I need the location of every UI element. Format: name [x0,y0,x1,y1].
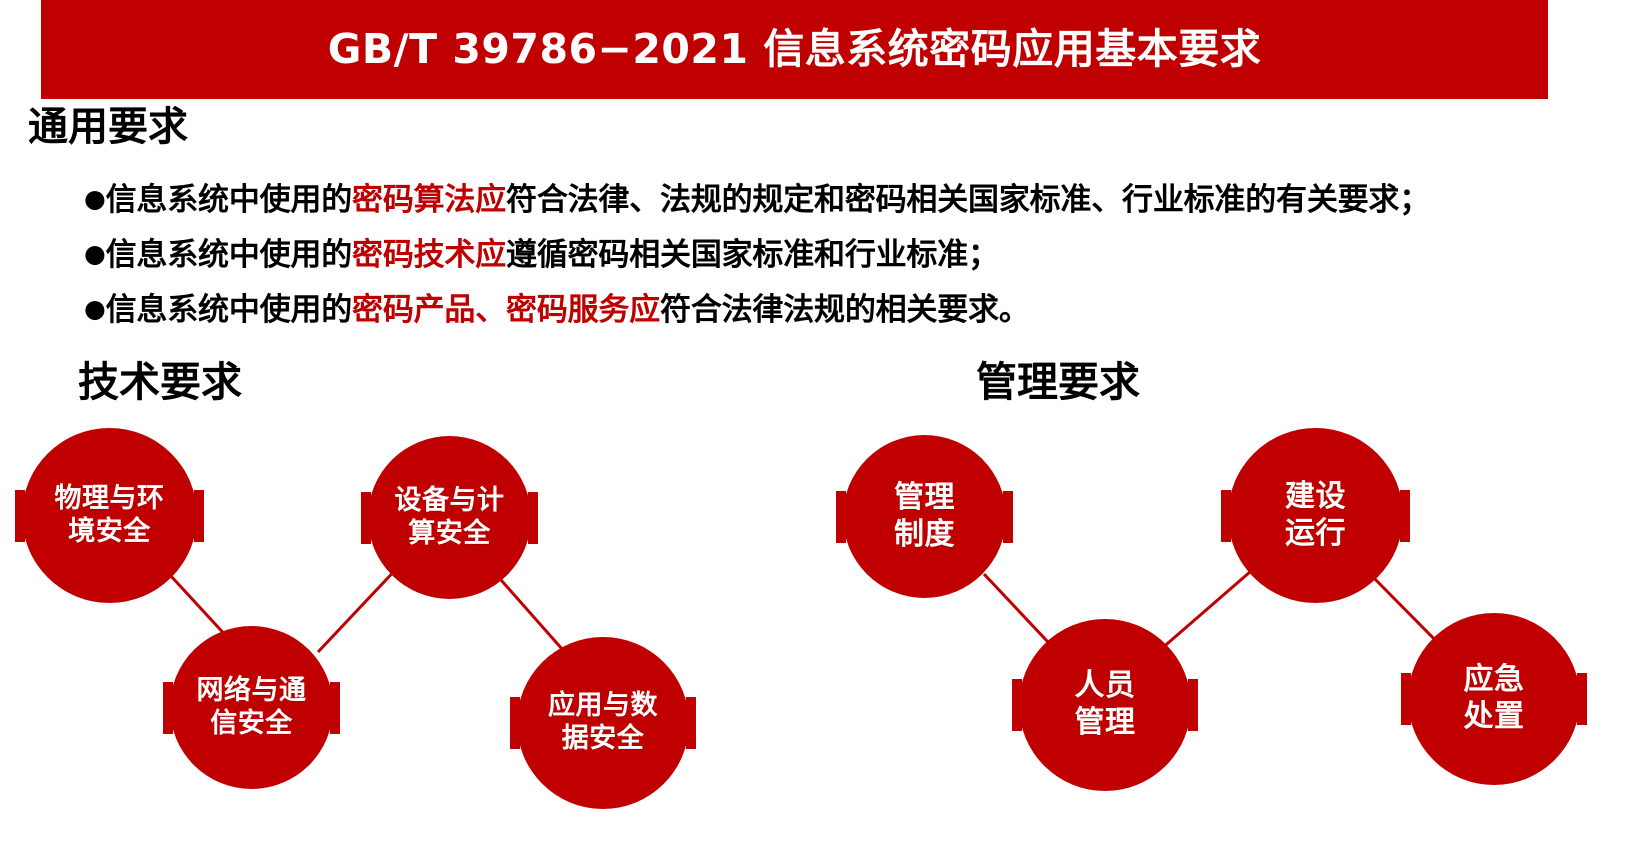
node-label: 建设 运行 [1285,479,1346,552]
diagram-node-device-computing-security[interactable]: 设备与计 算安全 [368,436,531,599]
node-label: 管理 制度 [894,480,955,553]
diagram-node-management-system[interactable]: 管理 制度 [843,435,1006,598]
node-label: 应急 处置 [1464,662,1525,735]
diagram-node-physical-environment-security[interactable]: 物理与环 境安全 [22,428,197,603]
node-label: 应用与数 据安全 [548,690,658,756]
requirements-diagram: 物理与环 境安全 网络与通 信安全 设备与计 算安全 应用与数 据安全 管理 制… [0,0,1652,851]
node-label: 设备与计 算安全 [395,485,505,551]
connector-device-appdata [494,572,570,658]
diagram-node-construction-operation[interactable]: 建设 运行 [1228,428,1403,603]
connector-personnel-buildrun [1160,565,1258,650]
node-label: 网络与通 信安全 [197,675,307,741]
diagram-node-personnel-management[interactable]: 人员 管理 [1019,619,1191,791]
node-label: 物理与环 境安全 [55,483,165,549]
node-label: 人员 管理 [1075,668,1136,741]
diagram-node-emergency-response[interactable]: 应急 处置 [1408,613,1580,785]
diagram-node-application-data-security[interactable]: 应用与数 据安全 [517,637,689,809]
connector-network-device [318,565,400,652]
diagram-node-network-communication-security[interactable]: 网络与通 信安全 [170,626,333,789]
